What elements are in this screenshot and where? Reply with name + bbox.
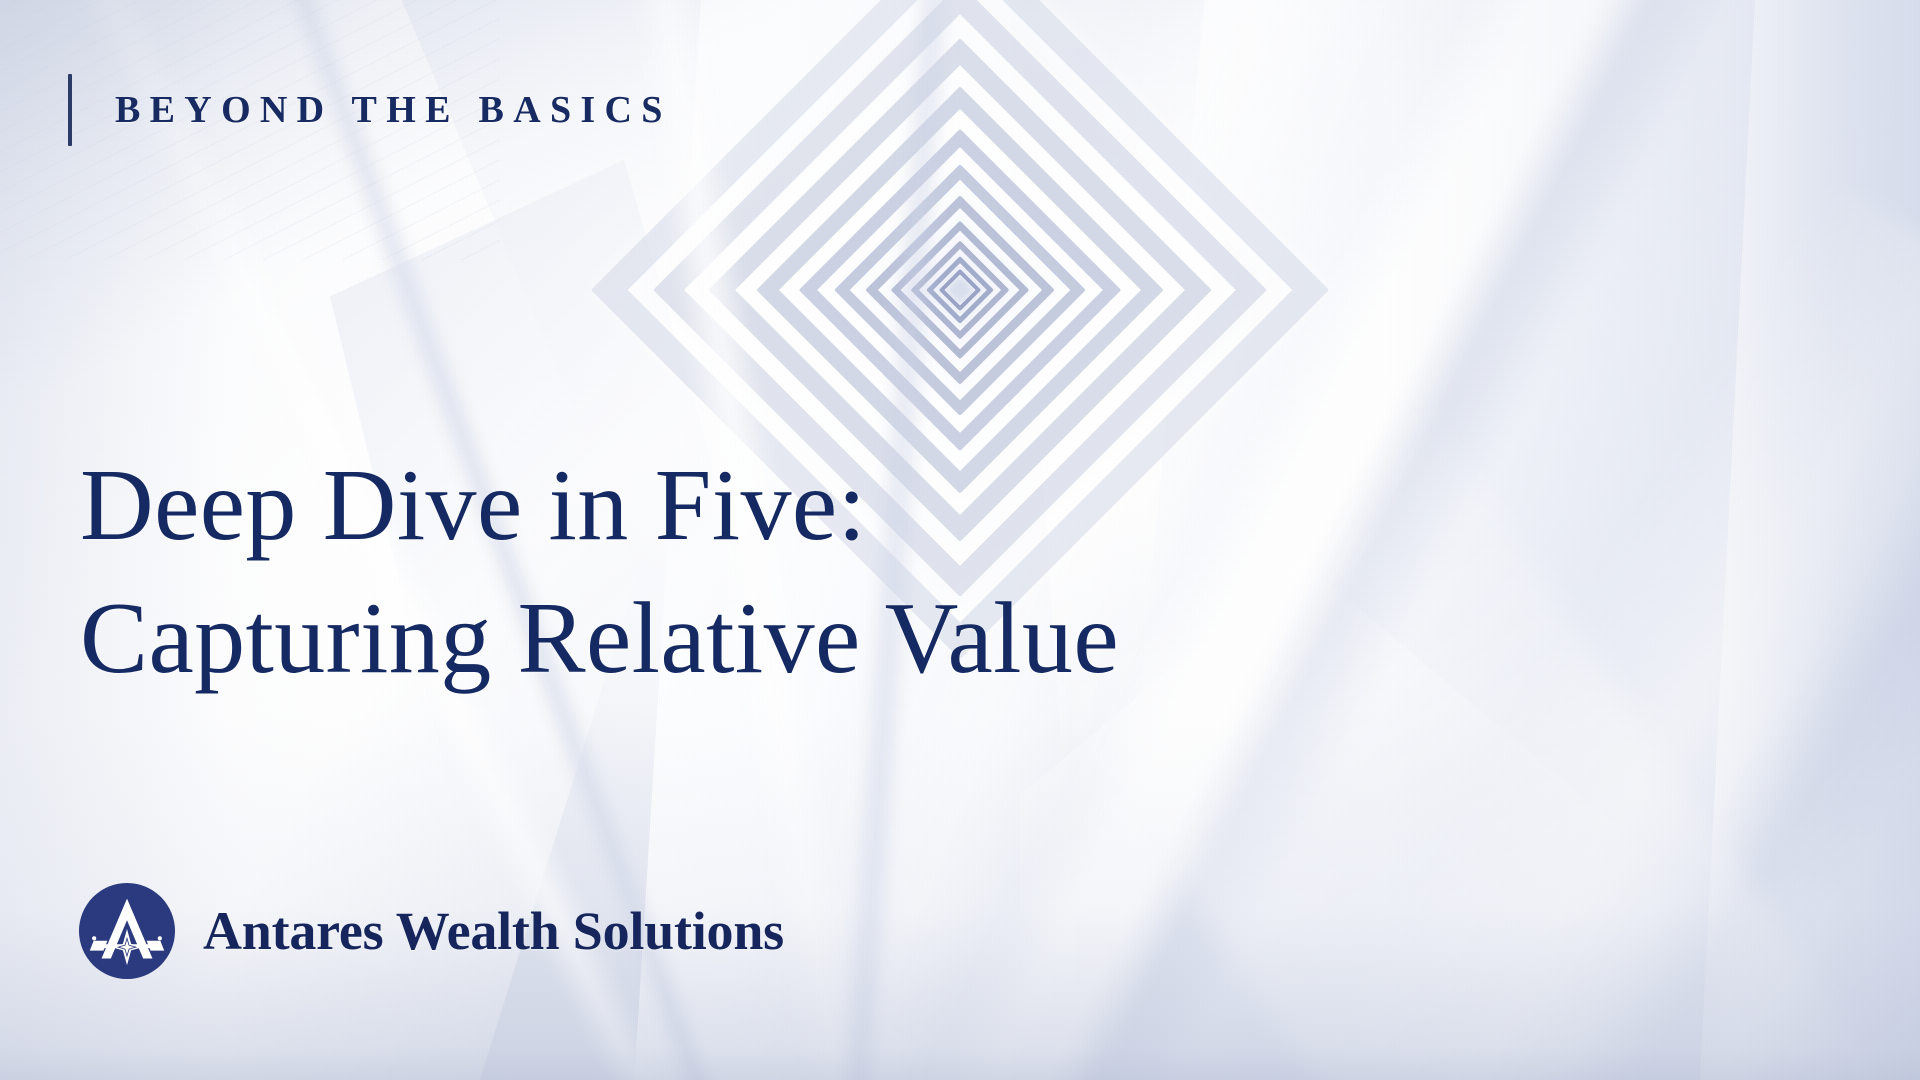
- eyebrow: BEYOND THE BASICS: [68, 74, 672, 146]
- slide-content: BEYOND THE BASICS Deep Dive in Five: Cap…: [0, 0, 1920, 1080]
- title-slide: BEYOND THE BASICS Deep Dive in Five: Cap…: [0, 0, 1920, 1080]
- page-title: Deep Dive in Five: Capturing Relative Va…: [80, 440, 1119, 705]
- antares-a-star-monogram-icon: [78, 882, 176, 980]
- page-title-line-2: Capturing Relative Value: [80, 573, 1119, 706]
- eyebrow-label: BEYOND THE BASICS: [115, 91, 672, 129]
- page-title-line-1: Deep Dive in Five:: [80, 440, 1119, 573]
- brand-lockup: Antares Wealth Solutions: [78, 882, 784, 980]
- eyebrow-accent-rule: [68, 74, 72, 146]
- brand-name: Antares Wealth Solutions: [203, 904, 784, 958]
